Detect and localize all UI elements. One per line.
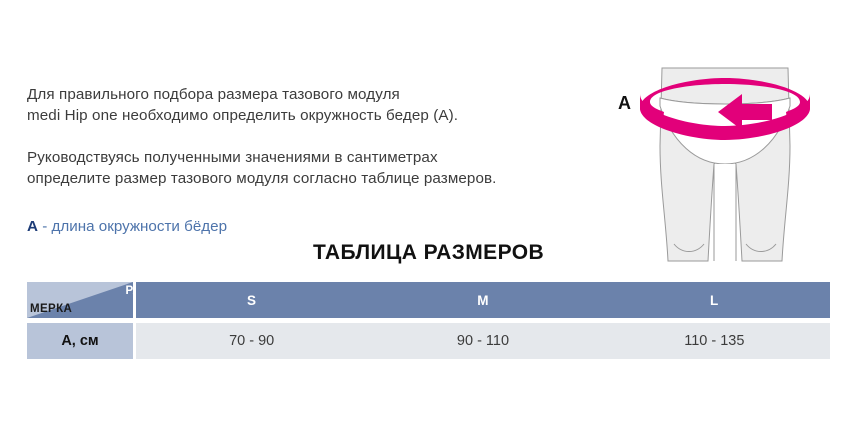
legend-key: A [27, 218, 38, 235]
intro-paragraph-2-line-1: Руководствуясь полученными значениями в … [27, 147, 587, 168]
intro-paragraph-1-line-2: medi Hip one необходимо определить окруж… [27, 105, 587, 126]
cell-value-m: 90 - 110 [367, 323, 598, 359]
column-header-l: L [599, 282, 830, 318]
cell-value-l: 110 - 135 [599, 323, 830, 359]
size-table-grid: РАЗМЕР МЕРКА S M L A, см 70 - 90 90 - 11… [27, 282, 830, 359]
row-metric-label: A, см [27, 323, 133, 359]
corner-header-cell: РАЗМЕР МЕРКА [27, 282, 133, 318]
legend-line: A - длина окружности бёдер [27, 216, 227, 237]
size-table-body: A, см 70 - 90 90 - 110 110 - 135 [27, 318, 830, 359]
hip-measurement-illustration: A [600, 46, 850, 286]
column-header-s: S [136, 282, 367, 318]
column-header-m: M [367, 282, 598, 318]
legend-description: - длина окружности бёдер [42, 218, 227, 235]
body-diagram-svg [600, 46, 850, 286]
intro-paragraph-2: Руководствуясь полученными значениями в … [27, 147, 587, 189]
intro-paragraph-2-line-2: определите размер тазового модуля соглас… [27, 168, 587, 189]
header-row: РАЗМЕР МЕРКА S M L [27, 282, 830, 318]
intro-paragraph-1: Для правильного подбора размера тазового… [27, 84, 587, 126]
cell-value-s: 70 - 90 [136, 323, 367, 359]
table-row: A, см 70 - 90 90 - 110 110 - 135 [27, 323, 830, 359]
intro-paragraph-1-line-1: Для правильного подбора размера тазового… [27, 84, 587, 105]
leg-gap [714, 164, 736, 261]
measure-label-a: A [618, 93, 631, 114]
size-table-header: РАЗМЕР МЕРКА S M L [27, 282, 830, 318]
intro-text-block: Для правильного подбора размера тазового… [27, 84, 587, 189]
corner-size-label: РАЗМЕР [126, 285, 134, 297]
corner-measure-label: МЕРКА [30, 303, 72, 315]
size-table: РАЗМЕР МЕРКА S M L A, см 70 - 90 90 - 11… [27, 282, 830, 359]
